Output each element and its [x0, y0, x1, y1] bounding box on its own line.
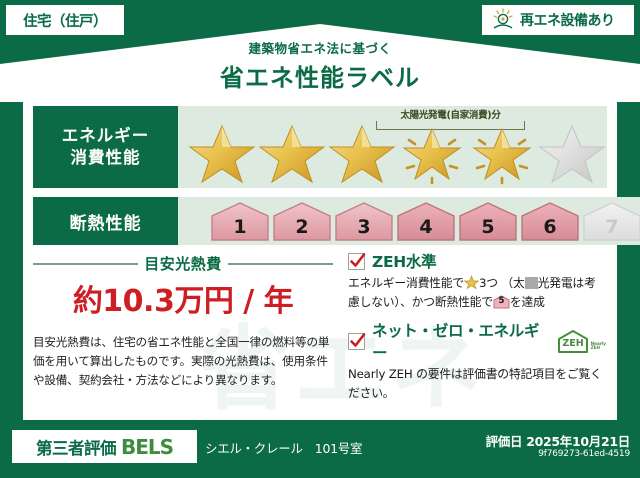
star-filled-solar-5	[468, 121, 536, 185]
insulation-grades-cell: 1 2 3 4	[178, 197, 640, 245]
insulation-grade-3: 3	[334, 201, 394, 242]
zeh-standard-text: エネルギー消費性能で3つ （太光発電は考慮しない）、かつ断熱性能で5を達成	[348, 274, 606, 312]
insulation-grade-1: 1	[210, 201, 270, 242]
energy-cost-panel: 目安光熱費 約10.3万円 / 年 目安光熱費は、住宅の省エネ性能と全国一律の燃…	[33, 253, 333, 390]
energy-performance-stars-cell: 太陽光発電(自家消費)分	[178, 106, 607, 188]
checkbox-net-zero[interactable]	[348, 333, 365, 350]
redaction-block	[525, 277, 538, 289]
label-title-block: 建築物省エネ法に基づく 省エネ性能ラベル	[0, 30, 640, 96]
energy-cost-amount: 約10.3万円 / 年	[33, 276, 333, 320]
insulation-grade-7: 7	[582, 201, 640, 242]
star-filled-3	[328, 121, 396, 185]
inline-star-icon	[464, 275, 479, 289]
check-icon	[348, 331, 367, 350]
zeh-text-part1: エネルギー消費性能で	[348, 276, 464, 290]
insulation-grade-5: 5	[458, 201, 518, 242]
divider-right	[228, 263, 333, 265]
star-filled-2	[258, 121, 326, 185]
zeh-text-part4: を達成	[510, 295, 545, 309]
inline-grade-badge: 5	[493, 295, 510, 309]
solar-annotation-text: 太陽光発電(自家消費)分	[376, 107, 525, 121]
energy-performance-label: 住宅（住戸） 再エネ設備あり 建築物省エネ法に基づく 省エネ性能ラベル 省エネ	[0, 0, 640, 478]
zeh-text-part2: 3つ （太	[479, 276, 525, 290]
energy-cost-heading: 目安光熱費	[33, 253, 333, 274]
bels-certification-badge: 第三者評価 BELS	[12, 430, 197, 463]
insulation-grade-1-number: 1	[210, 216, 270, 238]
insulation-grade-5-number: 5	[458, 216, 518, 238]
zeh-logo-group: ZEH NearlyZEH	[556, 329, 606, 354]
energy-performance-label-cell: エネルギー 消費性能	[33, 106, 178, 188]
energy-performance-row: エネルギー 消費性能 太陽光発電(自家消費)分	[33, 106, 607, 188]
star-rating	[178, 121, 606, 188]
title-subtitle: 建築物省エネ法に基づく	[248, 38, 391, 57]
zeh-standard-block: ZEH水準 エネルギー消費性能で3つ （太光発電は考慮しない）、かつ断熱性能で5…	[348, 250, 606, 312]
building-type-tag: 住宅（住戸）	[6, 5, 124, 35]
energy-label-line1: エネルギー	[62, 125, 150, 147]
net-zero-header: ネット・ゼロ・エネルギー ZEH NearlyZEH	[348, 319, 606, 363]
zeh-panel: ZEH水準 エネルギー消費性能で3つ （太光発電は考慮しない）、かつ断熱性能で5…	[348, 250, 606, 410]
sun-icon	[490, 8, 516, 32]
insulation-grade-6-number: 6	[520, 216, 580, 238]
inline-grade-badge-value: 5	[493, 295, 510, 309]
bels-en-label: BELS	[121, 435, 173, 459]
insulation-performance-row: 断熱性能 1 2 3	[33, 197, 607, 245]
net-zero-title: ネット・ゼロ・エネルギー	[372, 319, 549, 363]
insulation-grade-2-number: 2	[272, 216, 332, 238]
energy-cost-heading-text: 目安光熱費	[144, 253, 222, 274]
insulation-grade-7-number: 7	[582, 216, 640, 238]
certificate-uid: 9f769273-61ed-4519	[538, 449, 630, 459]
renewable-energy-label: 再エネ設備あり	[520, 10, 615, 30]
zeh-logo-caption: NearlyZEH	[591, 342, 606, 354]
zeh-standard-header: ZEH水準	[348, 250, 606, 272]
label-footer: 第三者評価 BELS シエル・クレール 101号室 評価日 2025年10月21…	[0, 420, 640, 478]
insulation-grade-6: 6	[520, 201, 580, 242]
property-name: シエル・クレール 101号室	[205, 438, 362, 457]
insulation-performance-label-cell: 断熱性能	[33, 197, 178, 245]
check-icon	[348, 251, 367, 270]
evaluation-date: 評価日 2025年10月21日	[486, 431, 630, 450]
insulation-grade-4: 4	[396, 201, 456, 242]
checkbox-zeh-standard[interactable]	[348, 253, 365, 270]
energy-cost-note: 目安光熱費は、住宅の省エネ性能と全国一律の燃料等の単価を用いて算出したものです。…	[33, 333, 333, 390]
bels-ja-label: 第三者評価	[36, 435, 116, 459]
label-body: 省エネ エネルギー 消費性能 太陽光発電(自家消費)分	[23, 95, 617, 420]
insulation-grade-4-number: 4	[396, 216, 456, 238]
zeh-house-logo-icon: ZEH	[556, 329, 590, 354]
title-main: 省エネ性能ラベル	[220, 58, 420, 93]
star-empty-6	[538, 121, 606, 185]
insulation-grade-3-number: 3	[334, 216, 394, 238]
net-zero-text: Nearly ZEH の要件は評価書の特記項目をご覧ください。	[348, 365, 606, 403]
star-filled-solar-4	[398, 121, 466, 185]
star-filled-1	[188, 121, 256, 185]
insulation-grade-scale: 1 2 3 4	[178, 201, 640, 245]
zeh-standard-title: ZEH水準	[372, 250, 436, 272]
net-zero-block: ネット・ゼロ・エネルギー ZEH NearlyZEH Nearly ZEH の要…	[348, 319, 606, 403]
energy-label-line2: 消費性能	[71, 147, 141, 169]
svg-text:ZEH: ZEH	[562, 338, 583, 349]
divider-left	[33, 263, 138, 265]
renewable-energy-tag: 再エネ設備あり	[482, 5, 634, 35]
insulation-grade-2: 2	[272, 201, 332, 242]
